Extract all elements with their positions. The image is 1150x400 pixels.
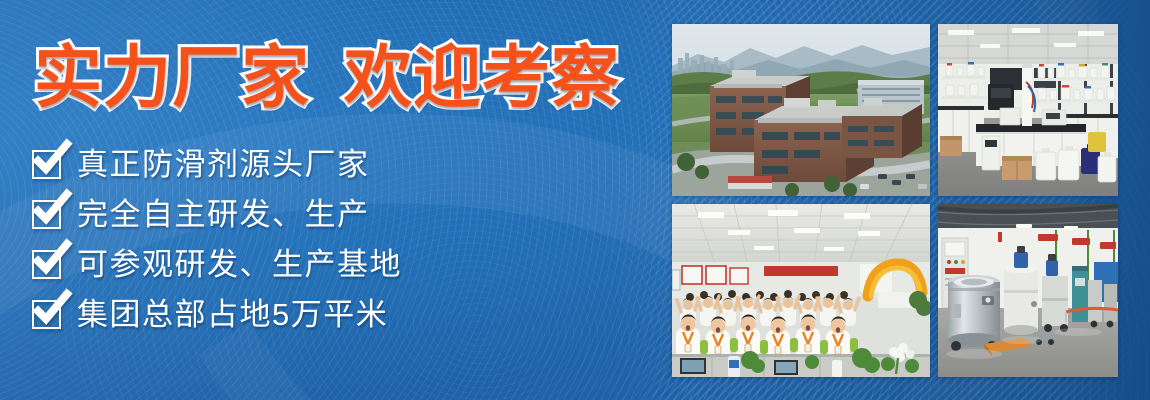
checkbox-checked-icon bbox=[32, 150, 61, 179]
feature-list: 真正防滑剂源头厂家 完全自主研发、生产 可参观研发、生产基地 bbox=[32, 142, 402, 336]
photo-laboratory bbox=[938, 24, 1118, 196]
text-column: 实力厂家 欢迎考察 真正防滑剂源头厂家 完全自主研发、生产 bbox=[0, 0, 640, 400]
list-item: 可参观研发、生产基地 bbox=[32, 242, 402, 286]
list-item: 完全自主研发、生产 bbox=[32, 192, 402, 236]
checkbox-checked-icon bbox=[32, 200, 61, 229]
list-item-label: 完全自主研发、生产 bbox=[77, 199, 370, 230]
photo-campus-aerial bbox=[672, 24, 930, 196]
checkbox-checked-icon bbox=[32, 300, 61, 329]
promo-banner: 实力厂家 欢迎考察 真正防滑剂源头厂家 完全自主研发、生产 bbox=[0, 0, 1150, 400]
list-item: 真正防滑剂源头厂家 bbox=[32, 142, 402, 186]
photo-production-workshop bbox=[938, 204, 1118, 377]
checkbox-checked-icon bbox=[32, 250, 61, 279]
headline-part-1: 实力厂家 bbox=[34, 44, 310, 112]
list-item: 集团总部占地5万平米 bbox=[32, 292, 402, 336]
headline: 实力厂家 欢迎考察 bbox=[34, 44, 620, 112]
list-item-label: 可参观研发、生产基地 bbox=[77, 249, 402, 280]
photo-office-team bbox=[672, 204, 930, 377]
headline-part-2: 欢迎考察 bbox=[344, 44, 620, 112]
list-item-label: 真正防滑剂源头厂家 bbox=[77, 149, 370, 180]
list-item-label: 集团总部占地5万平米 bbox=[77, 299, 388, 330]
photo-grid bbox=[672, 24, 1118, 377]
